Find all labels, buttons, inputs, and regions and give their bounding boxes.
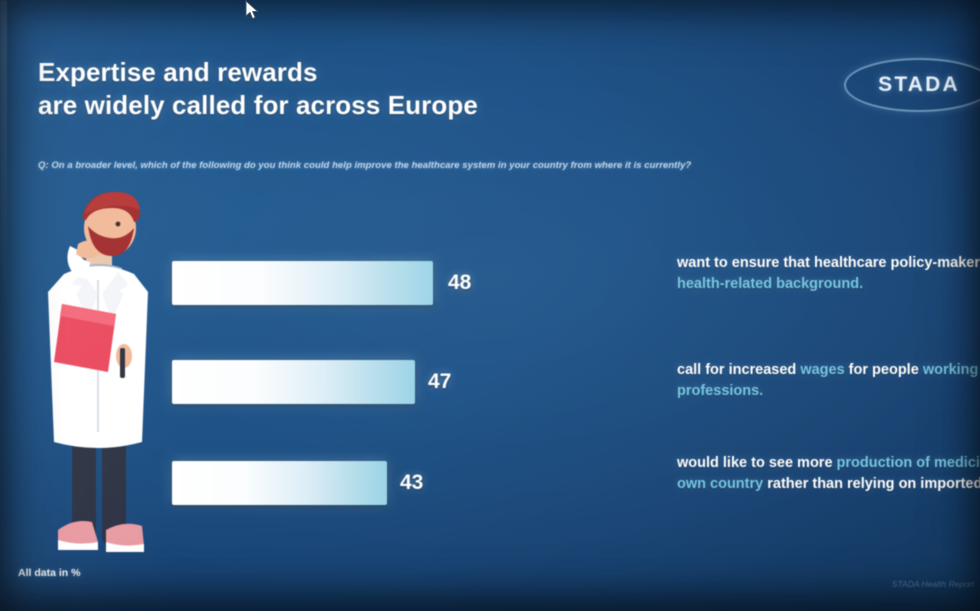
chart-row: 47 call for increased wages for people w… [172,360,932,404]
bar-value-43: 43 [400,471,423,495]
bar-label-1-part-1: want to ensure that healthcare policy-ma… [677,255,980,271]
bar-label-2: call for increased wages for people work… [677,360,980,401]
bar-label-3-part-1: would like to see more [677,455,837,471]
bar-label-1-highlight: health-related background. [677,276,863,292]
bar-48 [172,261,433,305]
bar-label-3: would like to see more production of med… [677,453,980,494]
chart-row: 43 would like to see more production of … [172,461,932,505]
bar-label-2-highlight-1: wages [800,362,844,378]
bar-label-1: want to ensure that healthcare policy-ma… [677,253,980,294]
bar-label-2-part-1: call for increased [677,362,800,378]
bar-value-48: 48 [448,271,471,295]
bar-label-3-part-2: rather than relying on imported goods. [763,476,980,492]
footnote-all-data-in-percent: All data in % [18,567,80,579]
bar-47 [172,360,415,404]
bar-value-47: 47 [428,370,451,394]
slide-content: Expertise and rewards are widely called … [0,0,980,611]
footnote-source: STADA Health Report [892,579,974,589]
horizontal-bar-chart: 48 want to ensure that healthcare policy… [0,0,980,611]
chart-row: 48 want to ensure that healthcare policy… [172,261,932,305]
slide-photo: Expertise and rewards are widely called … [0,0,980,611]
bar-label-2-part-2: for people [845,362,923,378]
bar-43 [172,461,387,505]
mouse-pointer-icon [244,0,260,22]
